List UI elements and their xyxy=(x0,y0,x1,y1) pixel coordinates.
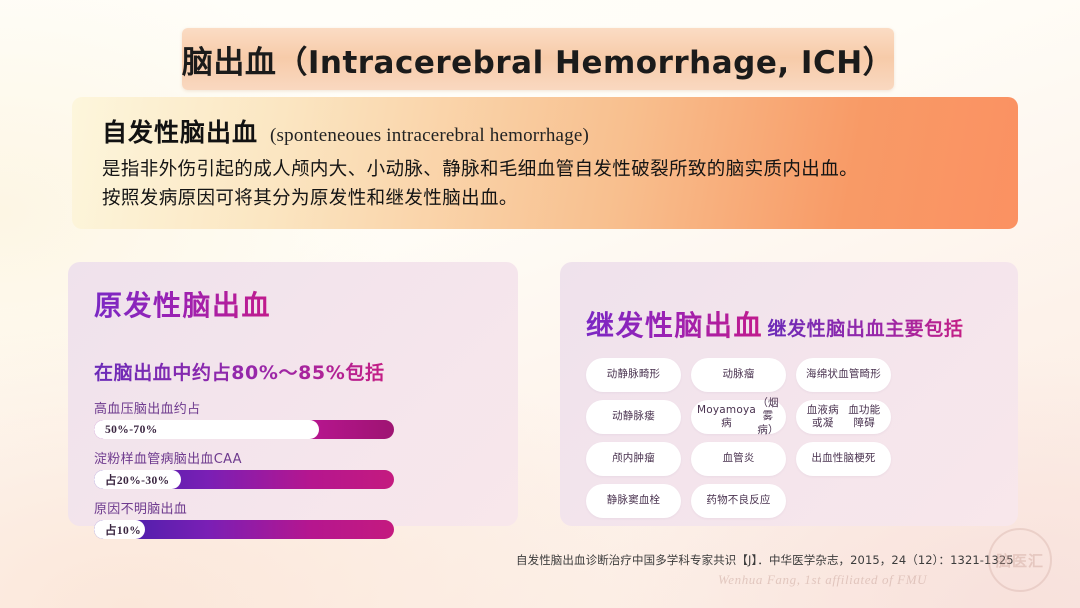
cause-chip-line: Moyamoya病 xyxy=(697,404,756,430)
secondary-hemorrhage-card: 继发性脑出血 继发性脑出血主要包括 动静脉畸形动脉瘤海绵状血管畸形动静脉瘘Moy… xyxy=(560,262,1018,526)
cause-chip-line: （烟雾病） xyxy=(756,397,780,436)
cause-chip[interactable]: 动脉瘤 xyxy=(691,358,786,392)
cause-chip-line: 药物不良反 xyxy=(706,494,760,507)
definition-banner: 自发性脑出血 (sponteneoues intracerebral hemor… xyxy=(72,97,1018,229)
cause-chip-line: 颅内肿瘤 xyxy=(612,452,655,465)
bar-track: 占20%-30% xyxy=(94,470,394,489)
cause-chip[interactable]: 血管炎 xyxy=(691,442,786,476)
bar-value-pill: 占20%-30% xyxy=(94,470,181,489)
cause-chip[interactable]: 海绵状血管畸形 xyxy=(796,358,891,392)
bar-value-pill: 50%-70% xyxy=(94,420,319,439)
primary-bar-list: 高血压脑出血约占 50%-70% 淀粉样血管病脑出血CAA 占20%-30% 原… xyxy=(94,398,492,539)
bar-track: 50%-70% xyxy=(94,420,394,439)
cause-chip-line: 静脉窦血栓 xyxy=(607,494,661,507)
cause-chip[interactable]: 出血性脑梗死 xyxy=(796,442,891,476)
definition-line-1: 是指非外伤引起的成人颅内大、小动脉、静脉和毛细血管自发性破裂所致的脑实质内出血。 xyxy=(102,156,992,185)
definition-heading: 自发性脑出血 (sponteneoues intracerebral hemor… xyxy=(102,113,992,149)
cause-chip-line: 血管炎 xyxy=(722,452,754,465)
page-title: 脑出血（Intracerebral Hemorrhage, ICH） xyxy=(182,37,894,82)
bar-value-pill: 占10% xyxy=(94,520,145,539)
cause-chip[interactable]: 血液病或凝血功能障碍 xyxy=(796,400,891,434)
cause-chip-line: 血功能障碍 xyxy=(844,404,886,430)
bar-label: 原因不明脑出血 xyxy=(94,498,492,517)
watermark-logo-icon: 脑医汇 xyxy=(988,528,1052,592)
bar-label: 高血压脑出血约占 xyxy=(94,398,492,417)
cause-chip[interactable]: 动静脉畸形 xyxy=(586,358,681,392)
cause-chip[interactable]: 颅内肿瘤 xyxy=(586,442,681,476)
secondary-cause-chip-list: 动静脉畸形动脉瘤海绵状血管畸形动静脉瘘Moyamoya病（烟雾病）血液病或凝血功… xyxy=(586,358,994,518)
cause-chip[interactable]: 动静脉瘘 xyxy=(586,400,681,434)
cause-chip-line: 动静脉瘘 xyxy=(612,410,655,423)
cause-chip[interactable]: Moyamoya病（烟雾病） xyxy=(691,400,786,434)
cause-chip-line: 出血性脑梗 xyxy=(811,452,865,465)
bar-track: 占10% xyxy=(94,520,394,539)
primary-card-subtitle: 在脑出血中约占80%～85%包括 xyxy=(94,358,385,385)
cause-chip-line: 动脉瘤 xyxy=(722,368,754,381)
cause-chip-line: 死 xyxy=(865,452,876,465)
cause-chip-line: 管畸形 xyxy=(849,368,881,381)
cause-chip-line: 血液病或凝 xyxy=(802,404,844,430)
watermark-author-text: Wenhua Fang, 1st affiliated of FMU xyxy=(718,572,927,588)
cause-chip-line: 动静脉畸形 xyxy=(607,368,661,381)
bar-item: 高血压脑出血约占 50%-70% xyxy=(94,398,492,439)
secondary-card-subtitle: 继发性脑出血主要包括 xyxy=(767,314,963,341)
definition-heading-en: (sponteneoues intracerebral hemorrhage) xyxy=(270,125,589,147)
citation-text: 自发性脑出血诊断治疗中国多学科专家共识【J】．中华医学杂志，2015，24（12… xyxy=(516,552,1014,568)
primary-hemorrhage-card: 原发性脑出血 在脑出血中约占80%～85%包括 高血压脑出血约占 50%-70%… xyxy=(68,262,518,526)
cause-chip-line: 应 xyxy=(760,494,771,507)
secondary-card-title: 继发性脑出血 xyxy=(586,304,763,344)
cause-chip[interactable]: 药物不良反应 xyxy=(691,484,786,518)
primary-card-title: 原发性脑出血 xyxy=(94,284,271,324)
bar-item: 淀粉样血管病脑出血CAA 占20%-30% xyxy=(94,448,492,489)
cause-chip[interactable]: 静脉窦血栓 xyxy=(586,484,681,518)
definition-heading-cn: 自发性脑出血 xyxy=(102,113,258,149)
bar-label: 淀粉样血管病脑出血CAA xyxy=(94,448,492,467)
definition-line-2: 按照发病原因可将其分为原发性和继发性脑出血。 xyxy=(102,185,992,214)
bar-item: 原因不明脑出血 占10% xyxy=(94,498,492,539)
cause-chip-line: 海绵状血 xyxy=(806,368,849,381)
slide-title-bar: 脑出血（Intracerebral Hemorrhage, ICH） xyxy=(182,28,894,90)
